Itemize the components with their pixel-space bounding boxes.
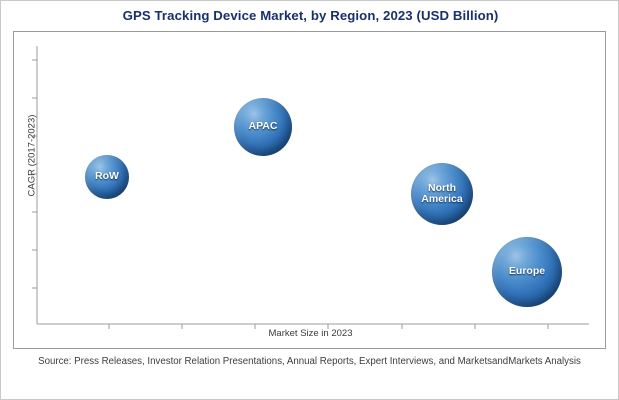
- bubble-label-north-america-line2: America: [421, 193, 462, 205]
- bubble-label-north-america: North America: [421, 183, 462, 206]
- x-axis-title: Market Size in 2023: [14, 328, 607, 339]
- source-note: Source: Press Releases, Investor Relatio…: [13, 355, 606, 369]
- plot-frame: CAGR (2017-2023) Market Size in 2023 RoW…: [13, 31, 606, 349]
- bubble-row[interactable]: RoW: [85, 155, 129, 199]
- bubble-label-apac: APAC: [249, 121, 278, 132]
- plot-area: CAGR (2017-2023) Market Size in 2023 RoW…: [14, 32, 607, 350]
- bubble-label-north-america-line1: North: [428, 182, 456, 194]
- bubble-north-america[interactable]: North America: [411, 163, 473, 225]
- bubble-apac[interactable]: APAC: [234, 98, 292, 156]
- bubble-label-row: RoW: [95, 171, 119, 182]
- bubble-europe[interactable]: Europe: [492, 237, 562, 307]
- y-axis-title: CAGR (2017-2023): [27, 76, 38, 236]
- page-title: GPS Tracking Device Market, by Region, 2…: [1, 8, 619, 23]
- chart-page: GPS Tracking Device Market, by Region, 2…: [0, 0, 619, 400]
- bubble-label-europe: Europe: [509, 266, 545, 277]
